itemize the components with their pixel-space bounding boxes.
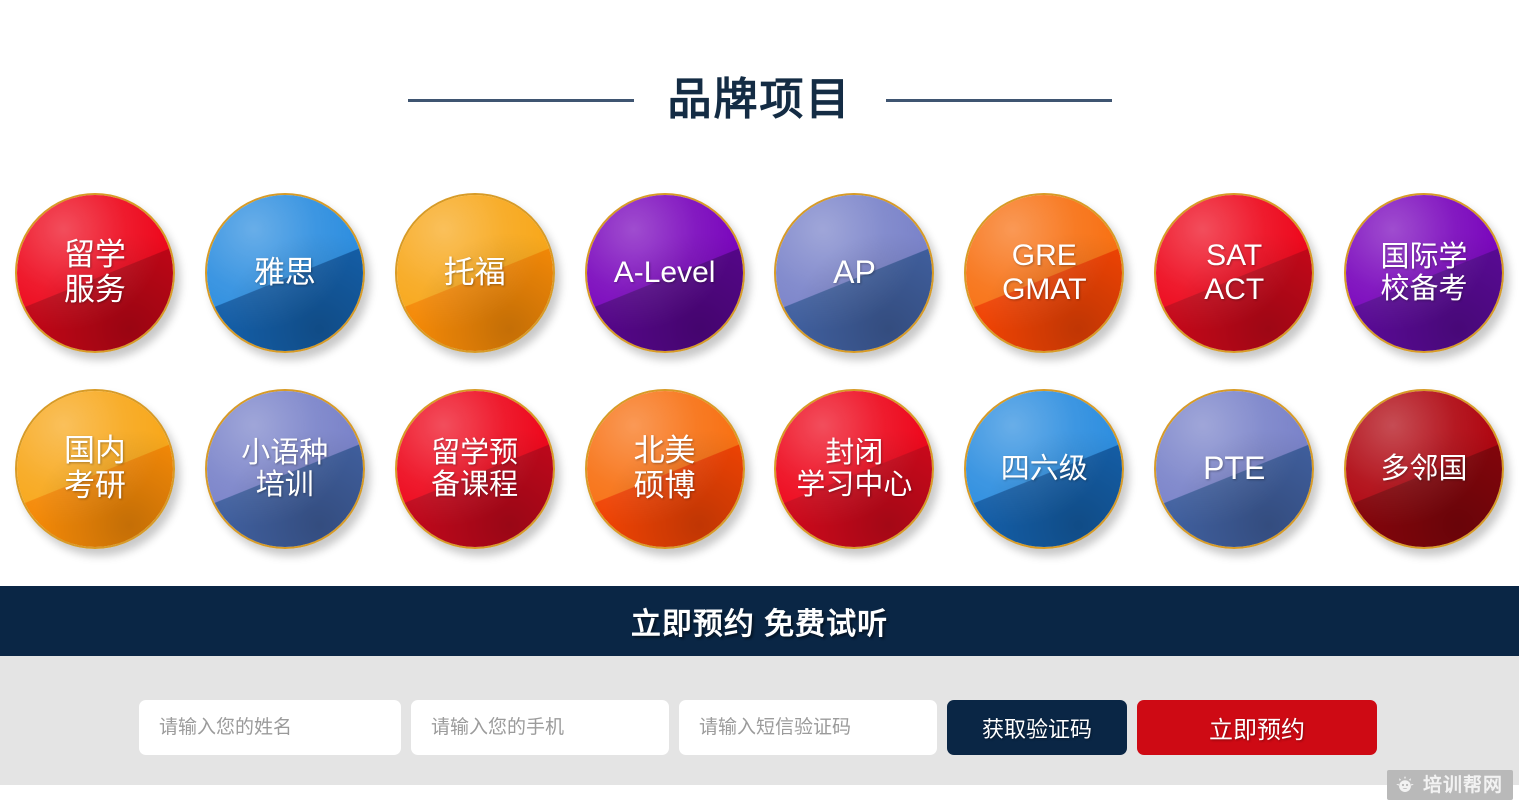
program-bubble-liuxue-yubei-kecheng[interactable]: 留学预 备课程 [395,389,555,549]
page-title: 品牌项目 [668,78,852,122]
sun-face-icon [1394,774,1416,796]
program-cell: 国际学 校备考 [1329,175,1519,371]
program-row-1: 留学 服务 雅思 托福 [0,175,1519,371]
program-label: 国内 考研 [62,434,128,503]
get-sms-code-button[interactable]: 获取验证码 [947,700,1127,755]
program-bubble-fengbi-xuexi-zhongxin[interactable]: 封闭 学习中心 [774,389,934,549]
program-bubble-ap[interactable]: AP [774,193,934,353]
program-bubble-a-level[interactable]: A-Level [585,193,745,353]
booking-form-strip: 获取验证码 立即预约 [0,656,1519,785]
program-bubble-beimei-shuobo[interactable]: 北美 硕博 [585,389,745,549]
program-cell: 雅思 [190,175,380,371]
program-cell: AP [760,175,950,371]
program-cell: SAT ACT [1139,175,1329,371]
program-cell: GRE GMAT [949,175,1139,371]
site-watermark: 培训帮网 [1387,770,1513,800]
program-cell: 封闭 学习中心 [760,371,950,567]
program-bubble-siliuji-cet[interactable]: 四六级 [964,389,1124,549]
program-cell: 小语种 培训 [190,371,380,567]
heading-rule-left [408,99,634,102]
cta-banner: 立即预约 免费试听 [0,586,1519,656]
booking-form: 获取验证码 立即预约 [139,700,1377,755]
program-label: 国际学 校备考 [1379,241,1470,306]
program-cell: PTE [1139,371,1329,567]
program-label: 封闭 学习中心 [794,437,914,502]
program-bubble-guonei-kaoyan[interactable]: 国内 考研 [15,389,175,549]
program-bubble-guoji-xuexiao-beikao[interactable]: 国际学 校备考 [1344,193,1504,353]
program-cell: 托福 [380,175,570,371]
program-label: AP [831,255,878,291]
program-label: 四六级 [999,453,1090,485]
program-grid: 留学 服务 雅思 托福 [0,175,1519,567]
program-label: A-Level [612,256,718,290]
watermark-label: 培训帮网 [1423,776,1503,795]
program-cell: 国内 考研 [0,371,190,567]
cta-banner-title: 立即预约 免费试听 [631,599,888,643]
program-cell: 留学预 备课程 [380,371,570,567]
submit-booking-button[interactable]: 立即预约 [1137,700,1377,755]
page-root: 品牌项目 留学 服务 雅思 [0,0,1519,804]
program-label: 雅思 [252,256,318,291]
program-bubble-yasi-ielts[interactable]: 雅思 [205,193,365,353]
program-cell: 北美 硕博 [570,371,760,567]
heading-rule-right [886,99,1112,102]
section-heading: 品牌项目 [0,64,1519,136]
program-label: 北美 硕博 [632,434,698,503]
program-label: 托福 [442,256,508,291]
program-cell: 四六级 [949,371,1139,567]
program-label: GRE GMAT [1000,239,1088,306]
program-label: PTE [1201,451,1267,487]
program-bubble-sat-act[interactable]: SAT ACT [1154,193,1314,353]
program-cell: A-Level [570,175,760,371]
program-bubble-pte[interactable]: PTE [1154,389,1314,549]
phone-input[interactable] [411,700,669,755]
program-bubble-liuxue-fuwu[interactable]: 留学 服务 [15,193,175,353]
program-cell: 多邻国 [1329,371,1519,567]
sms-code-input[interactable] [679,700,937,755]
program-bubble-tuofu-toefl[interactable]: 托福 [395,193,555,353]
program-label: 留学 服务 [62,238,128,307]
program-label: SAT ACT [1202,239,1266,306]
name-input[interactable] [139,700,401,755]
program-label: 留学预 备课程 [429,437,520,502]
program-bubble-xiaoyuzhong-peixun[interactable]: 小语种 培训 [205,389,365,549]
program-cell: 留学 服务 [0,175,190,371]
program-label: 多邻国 [1379,453,1470,485]
program-bubble-duolingguo[interactable]: 多邻国 [1344,389,1504,549]
program-bubble-gre-gmat[interactable]: GRE GMAT [964,193,1124,353]
program-row-2: 国内 考研 小语种 培训 留学预 备课程 [0,371,1519,567]
program-label: 小语种 培训 [239,437,330,502]
